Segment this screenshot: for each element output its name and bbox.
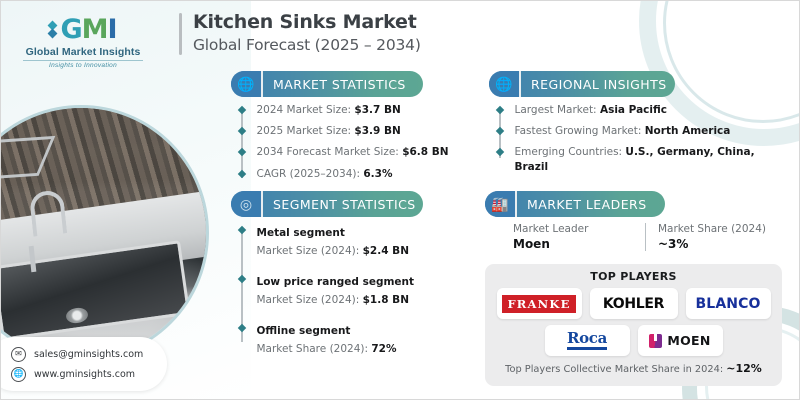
collective-share-text: Top Players Collective Market Share in 2… — [493, 362, 774, 375]
section-label: SEGMENT STATISTICS — [263, 197, 416, 212]
logo-wordmark: GMI — [49, 14, 116, 45]
bullet-diamond-icon — [495, 127, 503, 135]
top-players-row-1: FRANKE KOHLER BLANCO — [493, 288, 774, 319]
list-item: Fastest Growing Market: North America — [515, 124, 763, 138]
player-logo-roca[interactable]: Roca — [545, 325, 630, 356]
section-header-segment-statistics[interactable]: ◎ SEGMENT STATISTICS — [231, 191, 423, 217]
factory-icon: 🏭 — [485, 191, 517, 217]
market-statistics-list: 2024 Market Size: $3.7 BN 2025 Market Si… — [241, 103, 449, 187]
list-item: Emerging Countries: U.S., Germany, China… — [515, 145, 763, 173]
collective-share-label: Top Players Collective Market Share in 2… — [505, 364, 726, 375]
stat-value: $3.9 BN — [354, 125, 400, 137]
collective-share-value: ~12% — [726, 362, 762, 375]
segment-value: $2.4 BN — [363, 245, 409, 257]
logo-tagline: Insights to Innovation — [49, 62, 117, 69]
market-leader-column: Market Leader Moen — [513, 223, 645, 251]
envelope-icon: ✉ — [11, 347, 26, 362]
stat-label: 2034 Forecast Market Size: — [257, 146, 403, 158]
market-leader-summary: Market Leader Moen Market Share (2024) ~… — [513, 223, 777, 251]
market-leader-label: Market Leader — [513, 223, 645, 235]
region-value: North America — [645, 125, 731, 137]
bullet-diamond-icon — [495, 148, 503, 156]
section-header-market-statistics[interactable]: 🌐 MARKET STATISTICS — [231, 71, 423, 97]
moen-mark-icon — [649, 334, 662, 348]
stat-value: 6.3% — [363, 168, 392, 180]
page-subtitle: Global Forecast (2025 – 2034) — [193, 36, 421, 54]
section-header-regional-insights[interactable]: 🌐 REGIONAL INSIGHTS — [489, 71, 675, 97]
player-logo-blanco[interactable]: BLANCO — [686, 288, 771, 319]
segment-name: Metal segment — [257, 227, 345, 239]
list-connector-line — [241, 110, 243, 178]
top-players-panel: TOP PLAYERS FRANKE KOHLER BLANCO Roca MO… — [485, 264, 782, 386]
contact-email: sales@gminsights.com — [34, 349, 143, 360]
gmi-logo[interactable]: GMI Global Market Insights Insights to I… — [9, 11, 157, 71]
kitchen-sink-photo — [0, 105, 209, 361]
segment-name: Low price ranged segment — [257, 276, 415, 288]
globe-grid-icon: 🌐 — [489, 71, 521, 97]
stat-label: 2025 Market Size: — [257, 125, 355, 137]
player-name: MOEN — [667, 333, 710, 348]
section-label: MARKET STATISTICS — [263, 77, 406, 92]
globe-icon: 🌐 — [11, 367, 26, 382]
player-name: KOHLER — [603, 296, 664, 312]
list-item: 2024 Market Size: $3.7 BN — [257, 103, 449, 117]
diamond-icon — [49, 22, 56, 37]
market-leader-value: Moen — [513, 237, 645, 251]
section-header-market-leaders[interactable]: 🏭 MARKET LEADERS — [485, 191, 665, 217]
top-players-row-2: Roca MOEN — [493, 325, 774, 356]
market-share-label: Market Share (2024) — [658, 223, 777, 235]
player-logo-kohler[interactable]: KOHLER — [590, 288, 678, 319]
segment-metric: Market Size (2024): — [257, 245, 363, 257]
stat-value: $3.7 BN — [354, 104, 400, 116]
target-arrow-icon: ◎ — [231, 191, 263, 217]
player-name: Roca — [567, 331, 607, 350]
segment-metric: Market Share (2024): — [257, 343, 372, 355]
market-share-value: ~3% — [658, 237, 777, 251]
list-item: Low price ranged segment Market Size (20… — [257, 272, 415, 308]
chart-globe-icon: 🌐 — [231, 71, 263, 97]
list-item: Metal segment Market Size (2024): $2.4 B… — [257, 223, 415, 259]
player-logo-franke[interactable]: FRANKE — [497, 288, 582, 319]
logo-company-name: Global Market Insights — [26, 46, 141, 58]
top-players-title: TOP PLAYERS — [493, 270, 774, 283]
list-item: 2025 Market Size: $3.9 BN — [257, 124, 449, 138]
bullet-diamond-icon — [495, 106, 503, 114]
stat-label: CAGR (2025–2034): — [257, 168, 364, 180]
segment-name: Offline segment — [257, 325, 351, 337]
region-label: Largest Market: — [515, 104, 600, 116]
page-title: Kitchen Sinks Market — [193, 11, 421, 33]
region-value: Asia Pacific — [600, 104, 667, 116]
segment-value: $1.8 BN — [363, 294, 409, 306]
segment-value: 72% — [371, 343, 396, 355]
market-share-column: Market Share (2024) ~3% — [645, 223, 777, 251]
segment-statistics-list: Metal segment Market Size (2024): $2.4 B… — [241, 223, 414, 357]
contact-website: www.gminsights.com — [34, 369, 135, 380]
page-title-block: Kitchen Sinks Market Global Forecast (20… — [179, 11, 421, 55]
stat-label: 2024 Market Size: — [257, 104, 355, 116]
title-accent-bar — [179, 13, 182, 55]
region-label: Fastest Growing Market: — [515, 125, 645, 137]
list-item: CAGR (2025–2034): 6.3% — [257, 167, 449, 181]
contact-website-row[interactable]: 🌐 www.gminsights.com — [11, 367, 167, 382]
logo-text: GMI — [60, 14, 116, 45]
player-name: FRANKE — [501, 294, 576, 314]
contact-card: ✉ sales@gminsights.com 🌐 www.gminsights.… — [0, 337, 167, 391]
list-item: Offline segment Market Share (2024): 72% — [257, 321, 415, 357]
section-label: REGIONAL INSIGHTS — [521, 77, 667, 92]
logo-divider — [23, 60, 143, 61]
infographic-canvas: GMI Global Market Insights Insights to I… — [0, 0, 800, 400]
segment-metric: Market Size (2024): — [257, 294, 363, 306]
region-label: Emerging Countries: — [515, 146, 626, 158]
section-label: MARKET LEADERS — [517, 197, 647, 212]
regional-insights-list: Largest Market: Asia Pacific Fastest Gro… — [499, 103, 763, 174]
list-item: Largest Market: Asia Pacific — [515, 103, 763, 117]
contact-email-row[interactable]: ✉ sales@gminsights.com — [11, 347, 167, 362]
list-item: 2034 Forecast Market Size: $6.8 BN — [257, 145, 449, 159]
player-logo-moen[interactable]: MOEN — [638, 325, 723, 356]
player-name: BLANCO — [696, 296, 761, 312]
stat-value: $6.8 BN — [402, 146, 448, 158]
